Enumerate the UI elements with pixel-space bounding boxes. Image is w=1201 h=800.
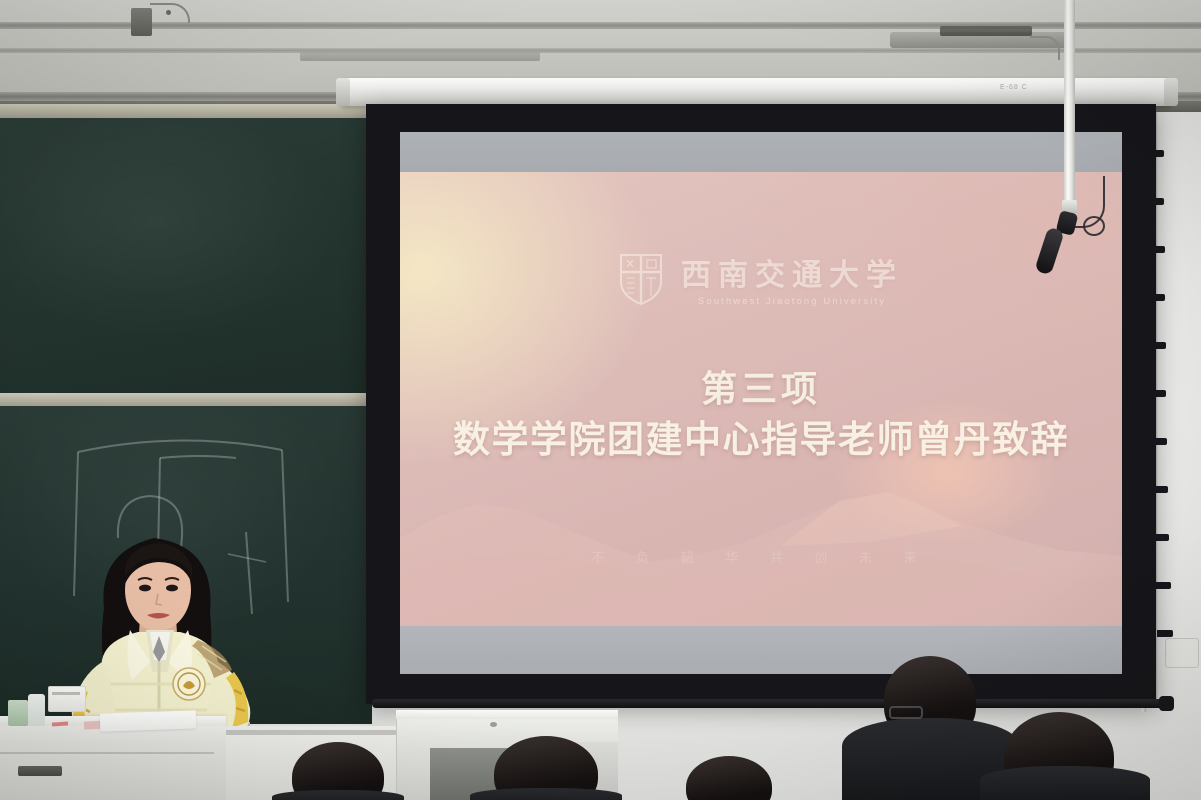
slide-title-block: 第三项 数学学院团建中心指导老师曾丹致辞 — [400, 368, 1122, 463]
projector-screen[interactable]: 西南交通大学 Southwest Jiaotong University 第三项… — [366, 104, 1156, 704]
wall-outlet — [1165, 638, 1199, 668]
tissue-box[interactable] — [8, 700, 28, 726]
side-desk-edge — [226, 730, 396, 735]
roller-cap-right — [1164, 78, 1178, 106]
ceiling-cable — [1030, 36, 1060, 60]
screen-tension-tab — [1148, 198, 1164, 205]
podium-handle[interactable] — [18, 766, 62, 776]
blackboard-frame-middle — [0, 393, 372, 406]
slide-footnote: 不 负 韶 华 共 创 未 来 — [400, 547, 1122, 566]
screen-tension-tab — [1152, 486, 1168, 493]
screen-tension-tab — [1153, 534, 1169, 541]
roller-label: E-68 C — [1000, 84, 1028, 91]
screen-weight-rod — [372, 699, 1172, 708]
university-logo: 西南交通大学 Southwest Jiaotong University — [400, 250, 1122, 307]
slide-title-sub: 数学学院团建中心指导老师曾丹致辞 — [400, 418, 1122, 462]
ceiling-mount-box — [131, 8, 152, 36]
audience-shoulders — [272, 790, 404, 800]
screen-tension-tab — [1149, 246, 1165, 253]
classroom-scene: E-68 C — [0, 0, 1201, 800]
slide-top-band — [400, 132, 1122, 172]
slide-body: 西南交通大学 Southwest Jiaotong University 第三项… — [400, 172, 1122, 626]
paper-stack[interactable] — [100, 710, 197, 731]
av-cabinet-top — [396, 710, 618, 719]
water-bottle[interactable] — [28, 694, 45, 726]
audience-shoulders — [980, 766, 1150, 800]
screen-tension-tab — [1149, 294, 1165, 301]
slide-bottom-band — [400, 626, 1122, 674]
logo-university-cn: 西南交通大学 — [681, 250, 903, 294]
podium-edge-line — [0, 752, 214, 754]
screen-tension-tab — [1150, 390, 1166, 397]
microphone-cable-loop — [1083, 216, 1105, 236]
ceiling-rail — [0, 48, 1201, 53]
screen-tension-tab — [1150, 342, 1166, 349]
slide-title-main: 第三项 — [400, 368, 1122, 410]
screen-tension-tab — [1148, 150, 1164, 157]
audience-shoulders — [470, 788, 622, 800]
screen-roller-housing[interactable] — [340, 78, 1172, 106]
slide-surface[interactable]: 西南交通大学 Southwest Jiaotong University 第三项… — [400, 132, 1122, 674]
logo-university-en: Southwest Jiaotong University — [698, 296, 886, 307]
shield-crest-icon — [619, 252, 663, 306]
blackboard-upper — [0, 118, 372, 393]
av-cabinet-button[interactable] — [490, 722, 497, 727]
ceiling-bracket — [940, 26, 1032, 36]
ceiling-fixture — [300, 52, 540, 61]
blackboard-frame-top — [0, 104, 372, 118]
name-card-text-line — [52, 692, 80, 695]
screen-tension-tab — [1155, 582, 1171, 589]
roller-cap-left — [336, 78, 350, 106]
audience-glasses — [889, 706, 923, 719]
ceiling-screw — [166, 10, 171, 15]
screen-rod-knob — [1159, 696, 1174, 711]
screen-tension-tab — [1151, 438, 1167, 445]
name-card[interactable] — [48, 686, 86, 712]
screen-tension-tab — [1157, 630, 1173, 637]
